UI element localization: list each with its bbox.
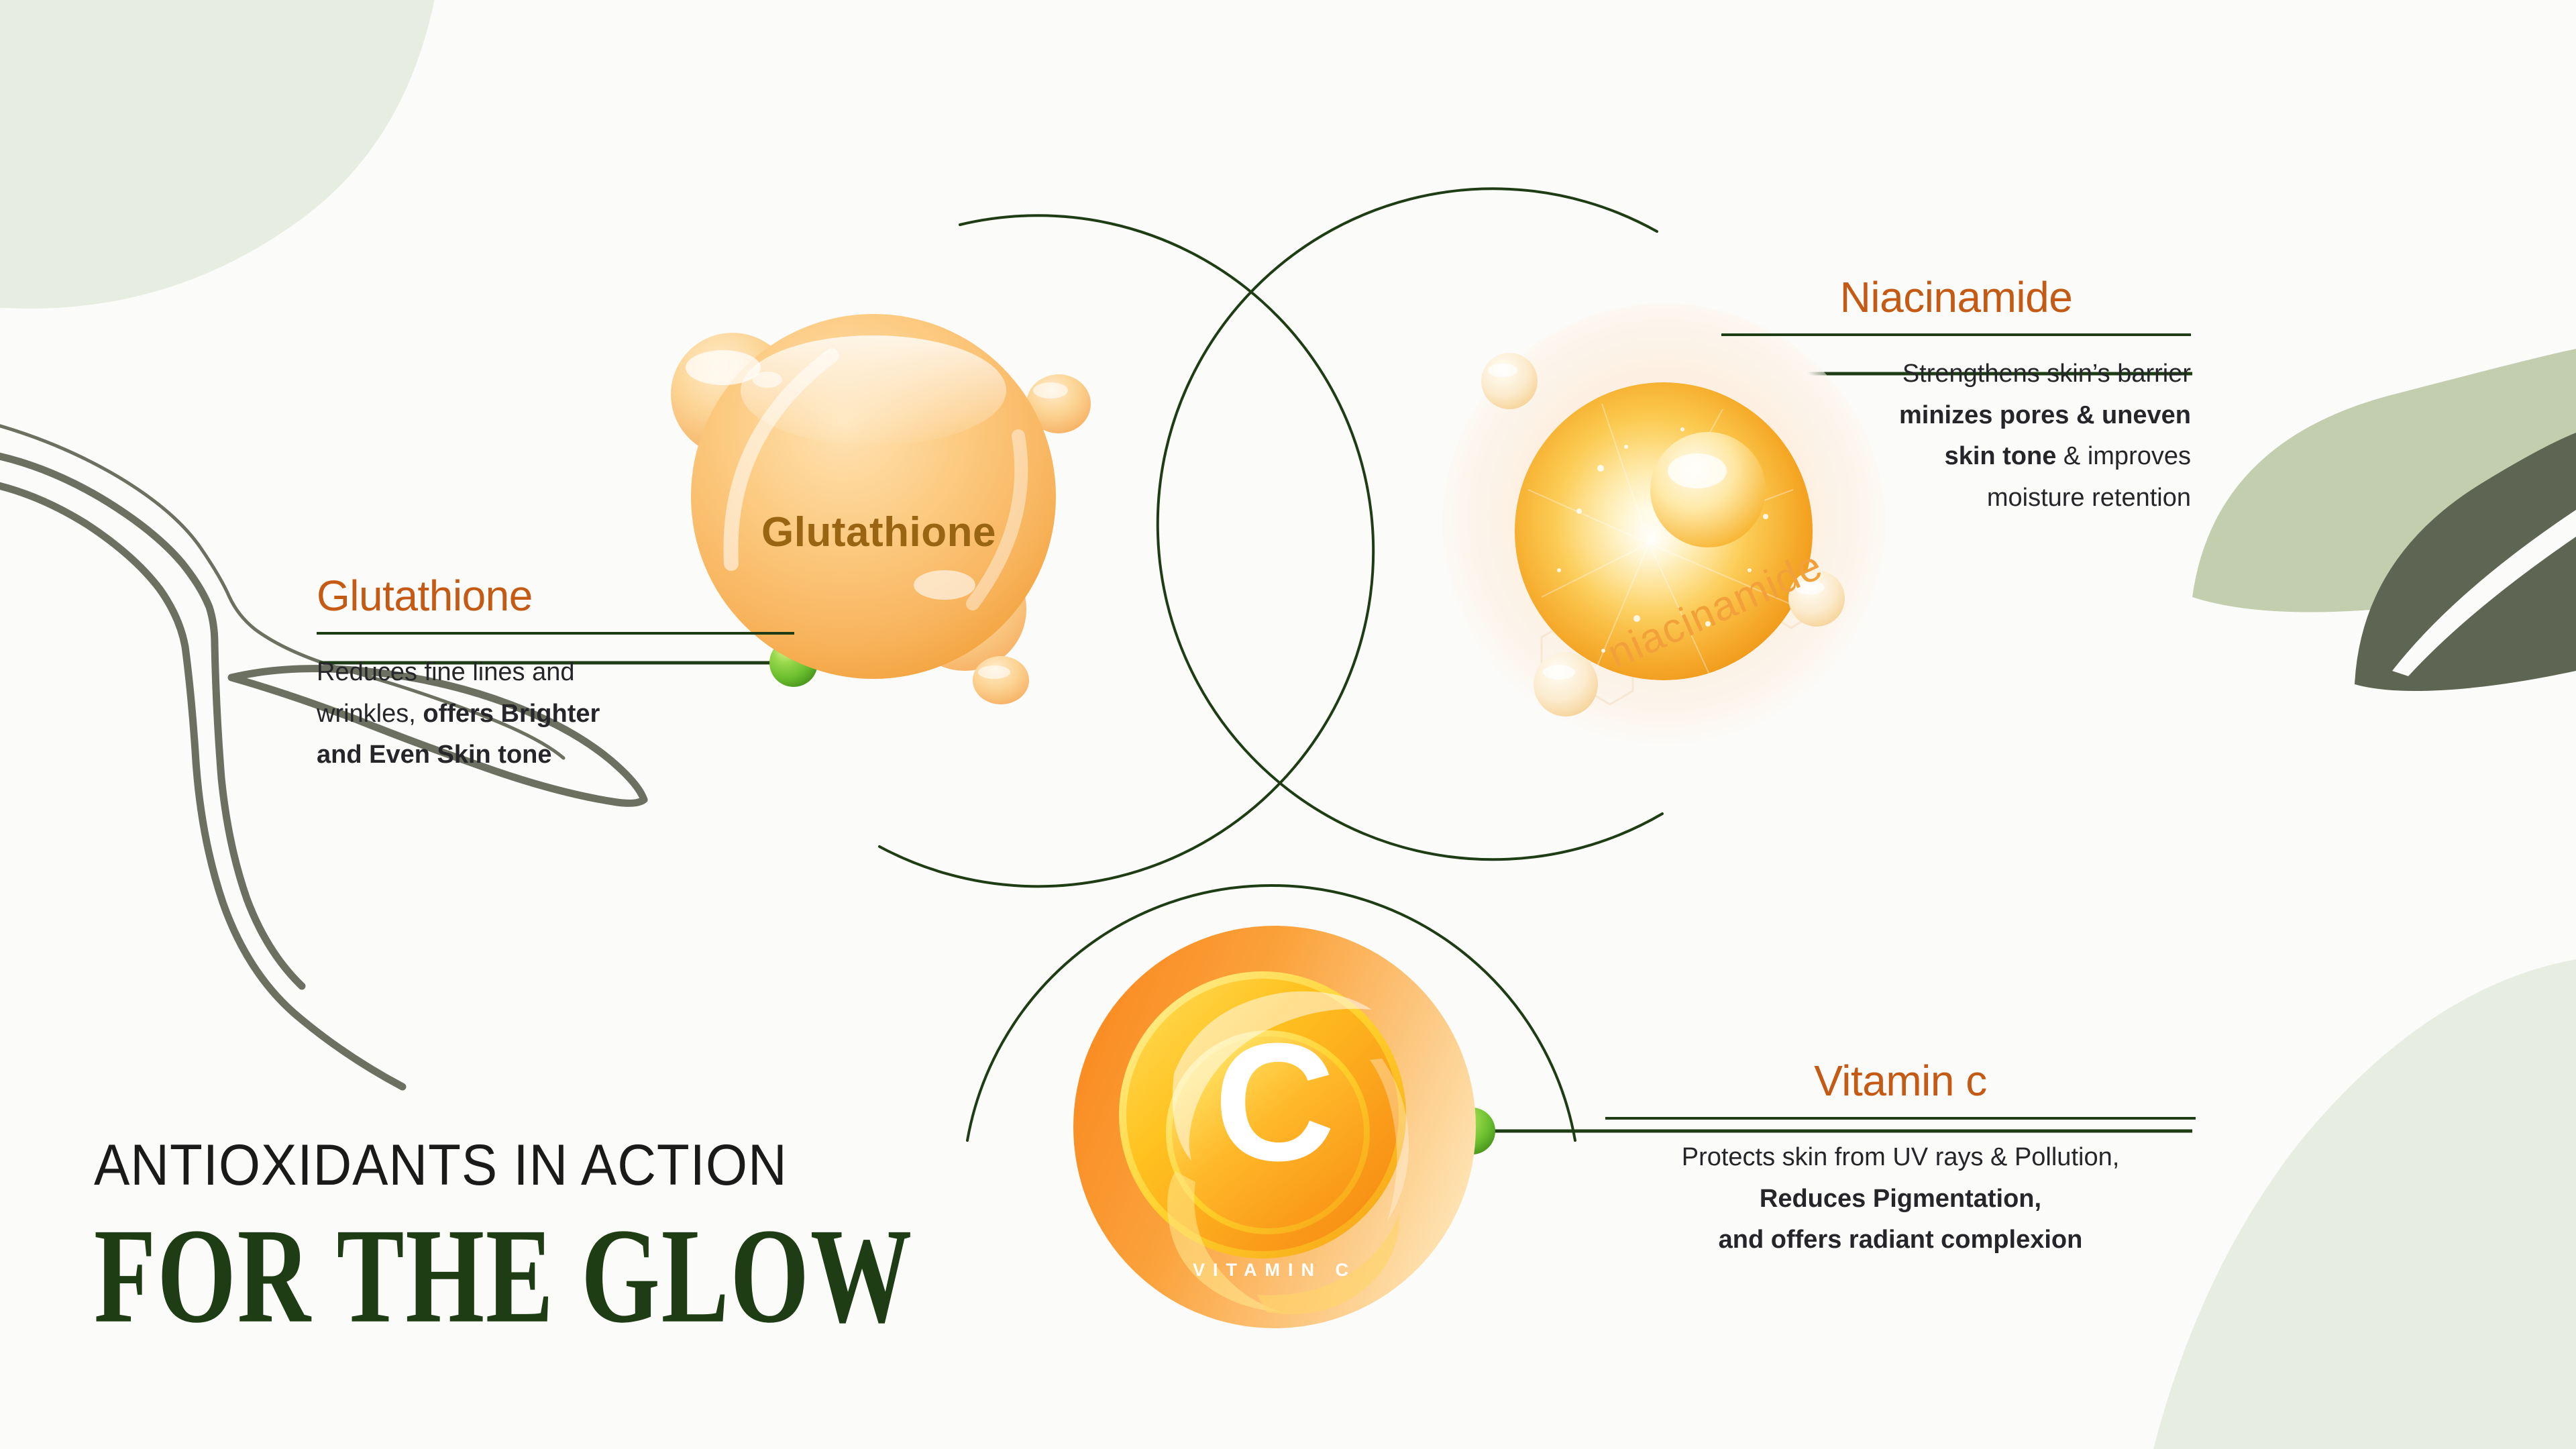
infographic-canvas: Glutathione [0,0,2576,1449]
description-line: Reduces fine lines and [317,652,794,694]
text-run: Strengthens skin’s barrier [1902,360,2191,388]
text-emphasis: Reduces Pigmentation, [1760,1185,2041,1213]
bubble-topleft-highlight [686,350,761,385]
headline-kicker: ANTIOXIDANTS IN ACTION [94,1134,959,1197]
description-line: Reduces Pigmentation, [1605,1179,2196,1220]
info-block-niacinamide: Niacinamide Strengthens skin’s barriermi… [1721,275,2191,519]
droplet-topleft-highlight [1488,364,1517,377]
text-emphasis: and Even Skin tone [317,741,552,769]
headline-main: FOR THE GLOW [94,1208,913,1344]
bubble-topleft-highlight2 [753,372,782,388]
leaf-dark-right [2355,433,2576,691]
vitaminc-title: Vitamin c [1605,1059,2196,1104]
info-block-vitaminc: Vitamin c Protects skin from UV rays & P… [1605,1059,2196,1261]
glutathione-title: Glutathione [317,574,794,619]
description-line: Strengthens skin’s barrier [1721,354,2191,395]
vitamin-c-capsule-graphic: C VITAMIN C [1067,919,1483,1335]
info-block-glutathione: Glutathione Reduces fine lines andwrinkl… [317,574,794,776]
bubble-left-highlight [914,570,975,600]
text-run: wrinkles, [317,700,423,728]
bubble-main-highlight [741,335,1006,445]
glutathione-description: Reduces fine lines andwrinkles, offers B… [317,652,794,776]
droplet-topleft [1481,353,1538,409]
text-run: moisture retention [1987,484,2191,512]
blob-bottom-right [2153,959,2576,1449]
description-line: and Even Skin tone [317,735,794,776]
description-line: moisture retention [1721,478,2191,519]
niacinamide-title-rule [1721,333,2191,336]
vitamin-c-caption: VITAMIN C [1067,1260,1483,1281]
droplet-bottomleft [1534,652,1598,716]
description-line: and offers radiant complexion [1605,1220,2196,1261]
text-emphasis: minizes pores & uneven [1899,401,2191,429]
text-emphasis: and offers radiant complexion [1719,1226,2083,1254]
text-run: Protects skin from UV rays & Pollution, [1682,1143,2120,1171]
blob-top-left [0,0,446,309]
bubble-right-highlight [1033,382,1068,398]
vitaminc-description: Protects skin from UV rays & Pollution,R… [1605,1137,2196,1261]
droplet-bottomleft-highlight [1543,665,1575,680]
bubble-bottomright-highlight [978,665,1010,679]
niacinamide-inner-highlight [1668,453,1727,488]
glutathione-title-rule [317,632,794,635]
page-headline: ANTIOXIDANTS IN ACTION FOR THE GLOW [94,1134,1025,1324]
text-emphasis: offers Brighter [423,700,600,728]
description-line: minizes pores & uneven [1721,395,2191,437]
niacinamide-title: Niacinamide [1721,275,2191,320]
leaf-light-right [2192,349,2576,612]
vitamin-c-letter: C [1067,1018,1483,1186]
text-emphasis: skin tone [1945,442,2057,470]
description-line: Protects skin from UV rays & Pollution, [1605,1137,2196,1179]
leaf-dark-vein [2392,510,2576,676]
bubble-small-bottomright [973,656,1029,704]
glutathione-sphere-label: Glutathione [624,508,1134,556]
description-line: skin tone & improves [1721,436,2191,478]
text-run: & improves [2056,442,2191,470]
niacinamide-description: Strengthens skin’s barrierminizes pores … [1721,354,2191,519]
text-run: Reduces fine lines and [317,658,574,686]
description-line: wrinkles, offers Brighter [317,694,794,735]
vitaminc-title-rule [1605,1117,2196,1120]
